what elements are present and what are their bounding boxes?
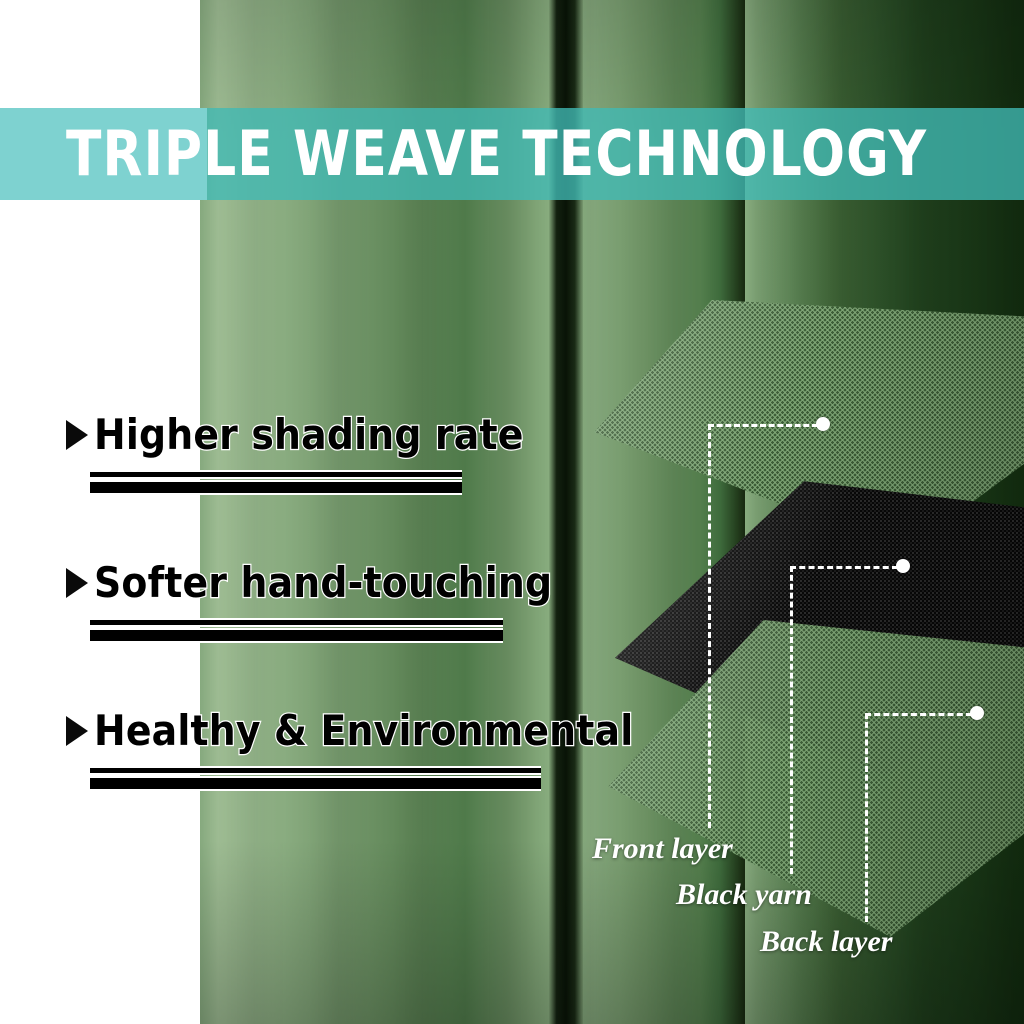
- leader-line-horizontal: [708, 424, 818, 427]
- layer-label-front: Front layer: [592, 832, 733, 866]
- white-dot-marker: [816, 417, 830, 431]
- leader-line-vertical: [865, 713, 868, 922]
- layer-label-back: Back layer: [760, 925, 892, 959]
- leader-line-vertical: [790, 566, 793, 874]
- layer-callouts: Front layer Black yarn Back layer: [0, 0, 1024, 1024]
- white-dot-marker: [970, 706, 984, 720]
- leader-line-horizontal: [790, 566, 898, 569]
- white-dot-marker: [896, 559, 910, 573]
- leader-line-vertical: [708, 424, 711, 828]
- leader-line-horizontal: [865, 713, 972, 716]
- layer-label-black-yarn: Black yarn: [676, 878, 812, 912]
- product-infographic: TRIPLE WEAVE TECHNOLOGY Higher shading r…: [0, 0, 1024, 1024]
